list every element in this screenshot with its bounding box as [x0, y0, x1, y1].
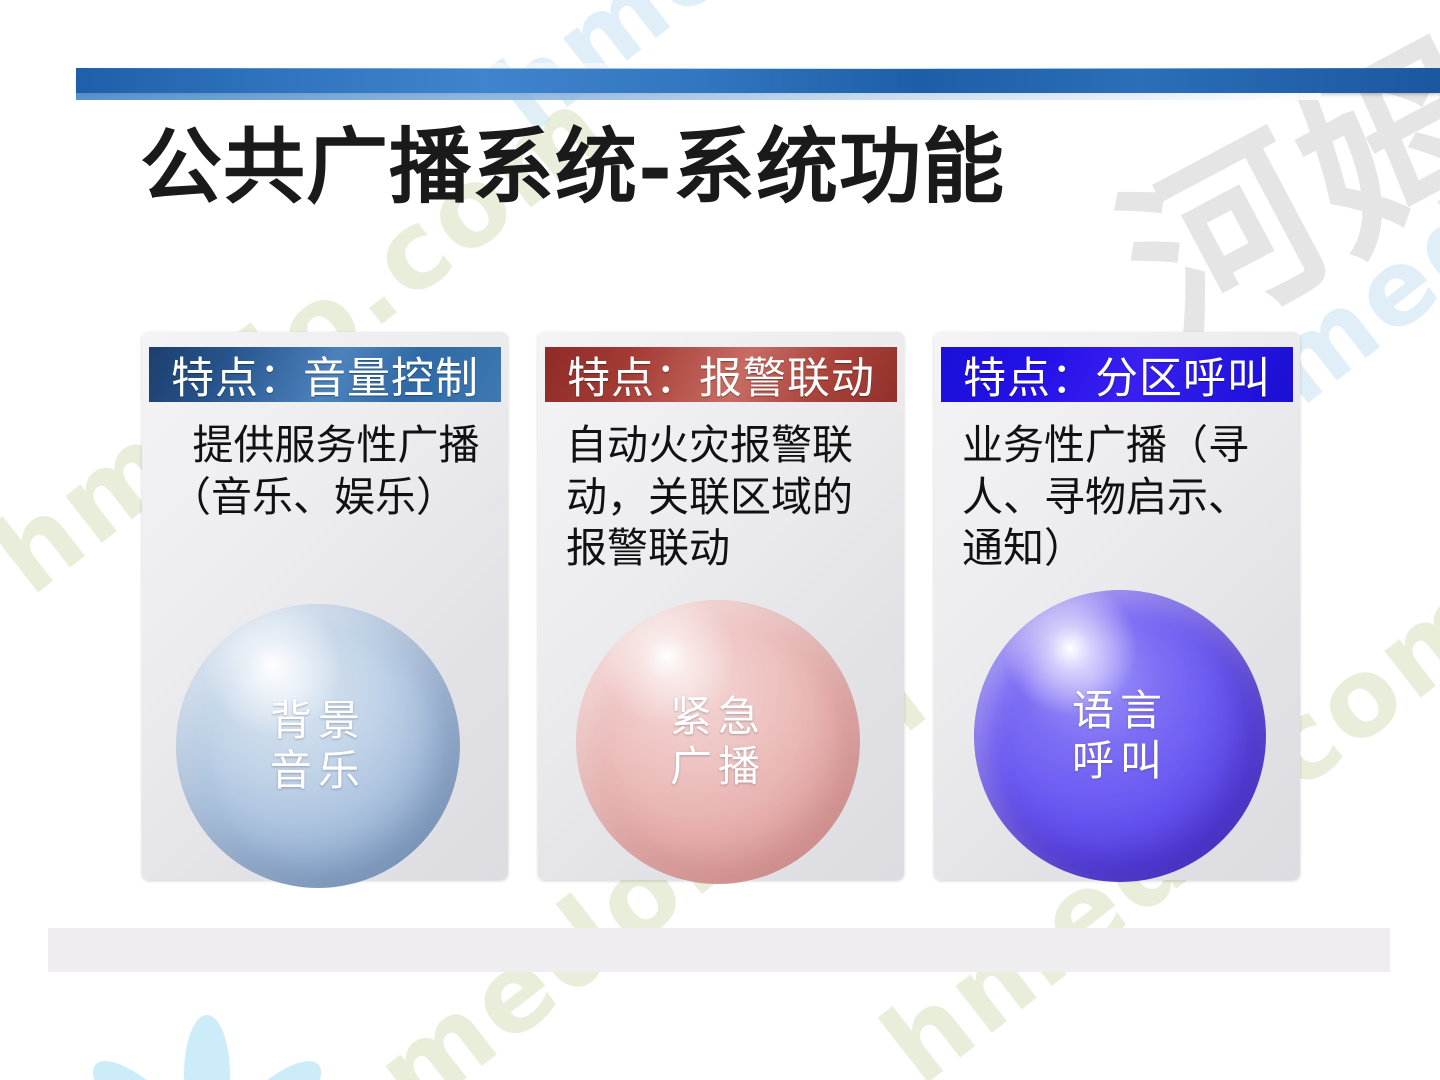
- top-accent-bar: [76, 68, 1440, 93]
- sphere-line-1: 语言: [1072, 686, 1168, 736]
- top-accent-bar-highlight: [76, 93, 1321, 100]
- bottom-accent-band: [48, 928, 1390, 972]
- sphere-emergency-broadcast: 紧急 广播: [576, 600, 860, 884]
- feature-card-alarm-linkage[interactable]: 特点：报警联动 自动火灾报警联动，关联区域的报警联动 紧急 广播: [538, 332, 904, 880]
- card-header-volume-control: 特点：音量控制: [149, 347, 501, 402]
- card-body-alarm-linkage: 自动火灾报警联动，关联区域的报警联动: [566, 420, 892, 575]
- feature-card-list: 特点：音量控制 提供服务性广播 （音乐、娱乐） 背景 音乐 特点：报警联动 自动…: [142, 332, 1302, 880]
- slide-canvas: hmedo.com hmedo.com hmedo.com hmedo.com …: [0, 0, 1440, 1080]
- sphere-line-2: 音乐: [270, 746, 366, 796]
- card-body-volume-control: 提供服务性广播 （音乐、娱乐）: [170, 420, 496, 523]
- sphere-line-2: 广播: [670, 742, 766, 792]
- sphere-background-music: 背景 音乐: [176, 604, 460, 888]
- card-header-alarm-linkage: 特点：报警联动: [545, 347, 897, 402]
- card-header-zone-paging: 特点：分区呼叫: [941, 347, 1293, 402]
- sphere-voice-paging: 语言 呼叫: [974, 590, 1266, 882]
- flower-watermark-icon: [80, 965, 320, 1080]
- page-title: 公共广播系统-系统功能: [140, 122, 1005, 214]
- sphere-line-2: 呼叫: [1072, 736, 1168, 786]
- sphere-line-1: 背景: [270, 696, 366, 746]
- card-body-zone-paging: 业务性广播（寻人、寻物启示、通知）: [962, 420, 1288, 575]
- feature-card-zone-paging[interactable]: 特点：分区呼叫 业务性广播（寻人、寻物启示、通知） 语言 呼叫: [934, 332, 1300, 880]
- feature-card-volume-control[interactable]: 特点：音量控制 提供服务性广播 （音乐、娱乐） 背景 音乐: [142, 332, 508, 880]
- sphere-line-1: 紧急: [670, 692, 766, 742]
